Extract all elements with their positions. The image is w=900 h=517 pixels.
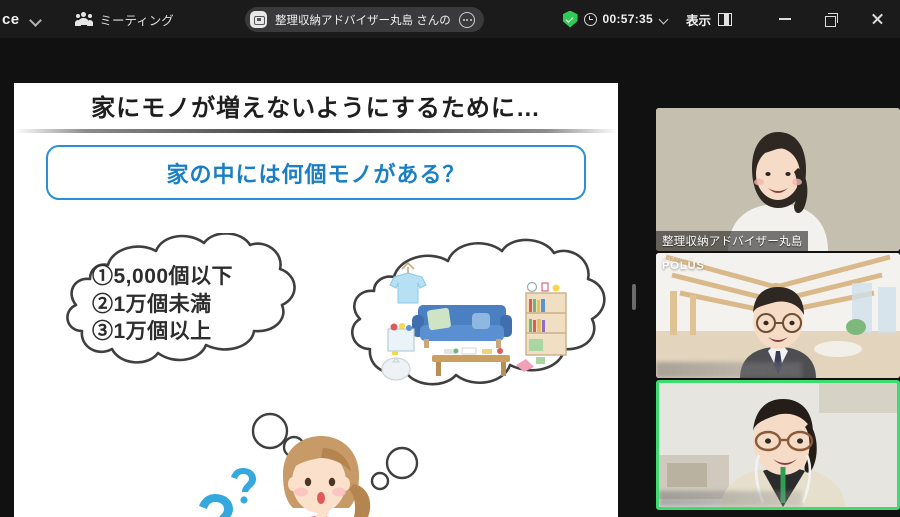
options-list: ①5,000個以下 ②1万個未満 ③1万個以上 [92,263,233,346]
view-menu[interactable]: 表示 [686,10,732,29]
question-box-text: 家の中には何個モノがある？ [166,157,465,189]
participant-name-label: 整理収納アドバイザー丸島 [656,231,808,251]
video-feed [656,108,900,251]
screen-share-icon [250,11,267,28]
meeting-menu[interactable]: ミーティング [75,10,174,29]
thinking-woman-illustration [249,428,389,517]
video-tile-active-speaker[interactable] [656,380,900,510]
blurred-overlay [659,491,802,507]
meeting-window: ce ミーティング 整理収納アドバイザー丸島 さんの 00:57:35 [0,0,900,517]
clock-icon [584,13,597,26]
blurred-overlay [656,362,802,378]
video-tile[interactable]: 整理収納アドバイザー丸島 [656,108,900,251]
titlebar-right-group: 00:57:35 表示 [563,0,900,38]
chevron-down-icon[interactable] [659,14,670,25]
list-item: ①5,000個以下 [92,263,233,291]
list-item: ②1万個未満 [92,291,233,319]
close-button[interactable] [854,0,900,38]
cushion-icon [382,358,410,380]
layout-icon [718,13,732,26]
minimize-button[interactable] [762,0,808,38]
options-thought-bubble: ①5,000個以下 ②1万個未満 ③1万個以上 [54,233,354,373]
meeting-timer[interactable]: 00:57:35 [563,11,670,28]
titlebar-center-group: 整理収納アドバイザー丸島 さんの [245,7,484,32]
screen-share-label: 整理収納アドバイザー丸島 さんの [275,12,451,28]
video-panel: 整理収納アドバイザー丸島 [656,108,900,508]
restore-icon [825,13,837,25]
minimize-icon [779,18,791,20]
drag-handle-icon[interactable] [632,284,636,310]
app-name-label: ce [2,11,20,28]
polus-watermark-sub: ポラスグループ [662,257,705,261]
meeting-label: ミーティング [100,10,174,29]
restore-button[interactable] [808,0,854,38]
chevron-down-icon[interactable] [29,13,42,26]
video-tile[interactable]: ポラスグループ POLUS [656,253,900,378]
question-box: 家の中には何個モノがある？ [46,145,586,200]
room-thought-bubble [344,233,614,403]
shield-check-icon [563,11,578,28]
people-icon [75,12,93,26]
screen-share-pill[interactable]: 整理収納アドバイザー丸島 さんの [245,7,484,32]
titlebar: ce ミーティング 整理収納アドバイザー丸島 さんの 00:57:35 [0,0,900,38]
meeting-stage: 家にモノが増えないようにするために… 家の中には何個モノがある？ ①5,000個… [0,38,900,517]
shared-slide[interactable]: 家にモノが増えないようにするために… 家の中には何個モノがある？ ①5,000個… [14,83,618,517]
ellipsis-icon[interactable] [459,12,475,28]
close-icon [871,13,883,25]
toy-box-icon [388,323,414,355]
slide-title: 家にモノが増えないようにするために… [14,88,618,123]
list-item: ③1万個以上 [92,318,233,346]
panel-splitter[interactable] [630,76,638,517]
bookshelf-icon [526,283,566,356]
title-divider [14,129,618,133]
timer-label: 00:57:35 [603,12,653,26]
titlebar-left-group: ce ミーティング [0,10,174,29]
polus-watermark-text: POLUS [662,260,705,272]
polus-watermark: ポラスグループ POLUS [662,257,705,272]
view-label: 表示 [686,10,711,29]
video-feed [659,383,897,507]
